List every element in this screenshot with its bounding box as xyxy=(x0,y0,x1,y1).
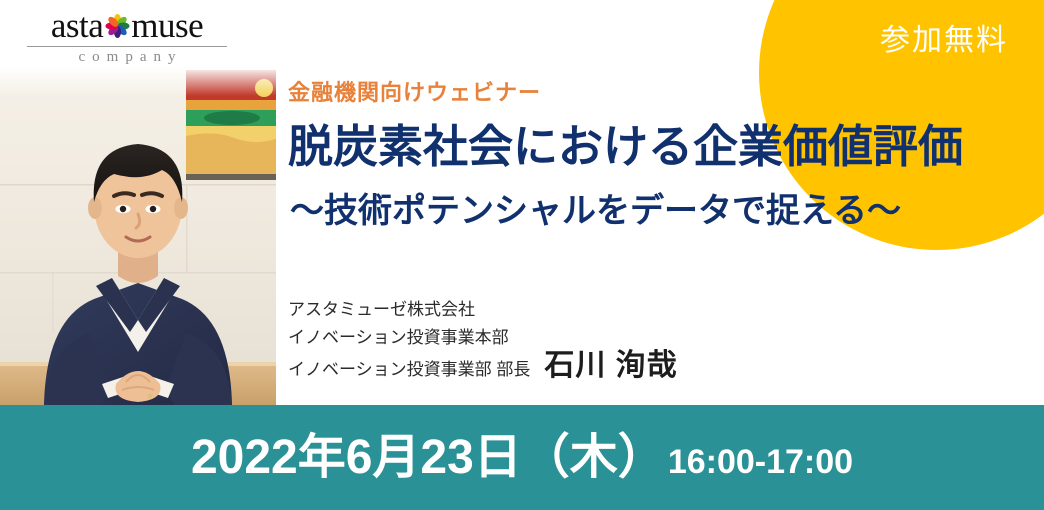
speaker-division: イノベーション投資事業本部 xyxy=(288,324,678,352)
astamuse-logo[interactable]: asta muse company xyxy=(27,8,227,66)
date-bar: 2022年6月23日（木） 16:00-17:00 xyxy=(0,405,1044,510)
speaker-name: 石川 洵哉 xyxy=(544,351,677,381)
eyebrow-text: 金融機関向けウェビナー xyxy=(288,82,541,104)
logo-wordmark: asta muse xyxy=(27,8,227,43)
logo-tagline: company xyxy=(27,49,227,66)
logo-word-asta: asta xyxy=(51,8,103,43)
logo-word-muse: muse xyxy=(131,8,203,43)
speaker-role-row: イノベーション投資事業部 部長 石川 洵哉 xyxy=(288,351,678,384)
speaker-role: イノベーション投資事業部 部長 xyxy=(288,356,530,384)
photo-top-fade xyxy=(0,66,276,96)
asterisk-flower-icon xyxy=(104,13,130,39)
page-title: 脱炭素社会における企業価値評価 xyxy=(288,121,963,173)
page-subtitle: 〜技術ポテンシャルをデータで捉える〜 xyxy=(290,192,901,231)
speaker-photo-illustration xyxy=(0,66,276,405)
webinar-banner: 参加無料 asta muse company xyxy=(0,0,1044,510)
date-bar-inner: 2022年6月23日（木） 16:00-17:00 xyxy=(191,434,853,482)
content-column: 金融機関向けウェビナー 脱炭素社会における企業価値評価 〜技術ポテンシャルをデー… xyxy=(288,0,1044,405)
speaker-info: アスタミューゼ株式会社 イノベーション投資事業本部 イノベーション投資事業部 部… xyxy=(288,296,678,384)
event-date: 2022年6月23日（木） xyxy=(191,434,666,482)
logo-divider xyxy=(27,46,227,47)
speaker-company: アスタミューゼ株式会社 xyxy=(288,296,678,324)
event-time: 16:00-17:00 xyxy=(668,445,853,479)
speaker-photo xyxy=(0,66,276,405)
